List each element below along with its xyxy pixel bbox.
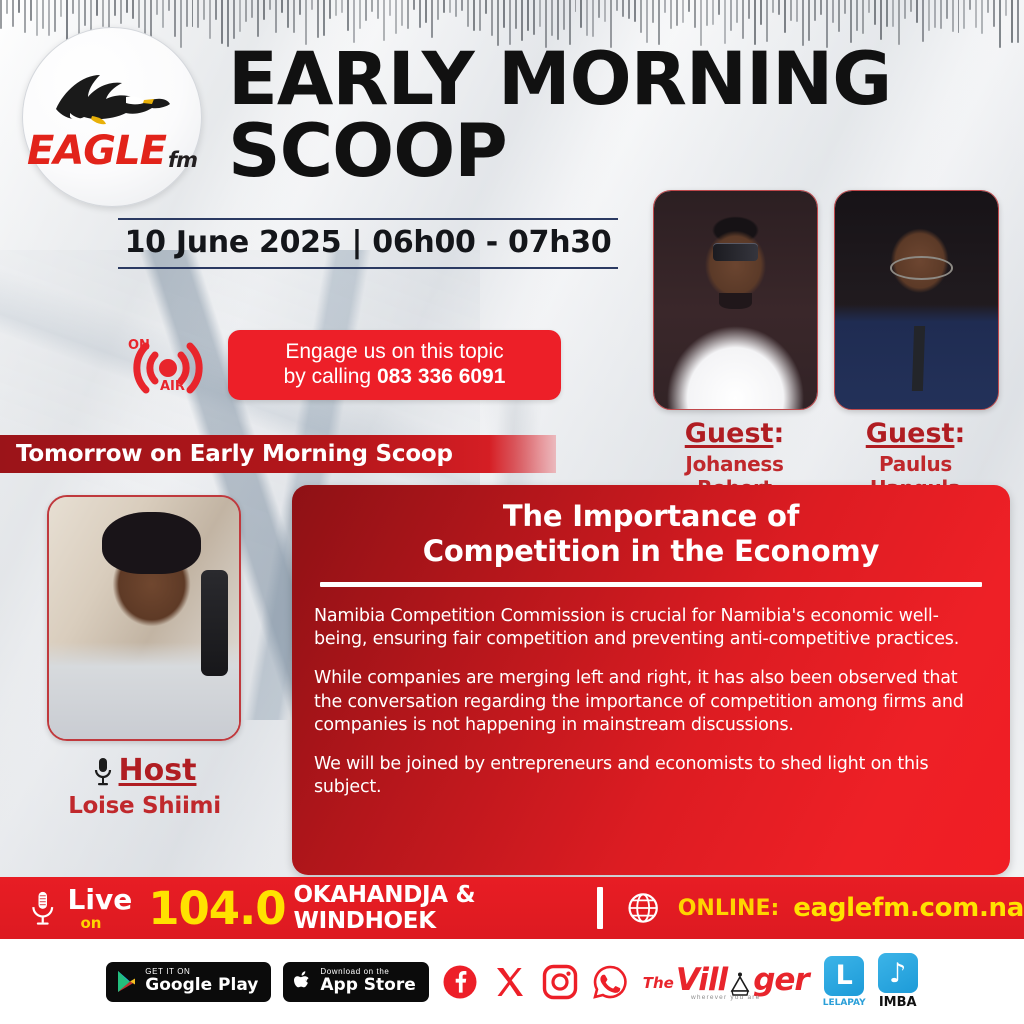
villager-main-2: ger	[753, 962, 809, 998]
google-play-text: GET IT ON Google Play	[145, 968, 258, 994]
live-block: Live on	[68, 886, 133, 931]
facebook-icon[interactable]	[441, 963, 479, 1001]
imba-logo[interactable]: ♪ IMBA	[878, 953, 918, 1010]
topic-title-line-2: Competition in the Economy	[423, 534, 880, 568]
imba-caption: IMBA	[879, 995, 917, 1010]
google-play-badge[interactable]: GET IT ON Google Play	[106, 962, 271, 1002]
station-suffix: fm	[168, 150, 197, 171]
on-air-top-label: ON	[128, 338, 150, 353]
call-in-phone: 083 336 6091	[377, 365, 505, 388]
guest-card-1: Guest: Johaness Robert	[653, 190, 816, 500]
imba-mark: ♪	[878, 953, 918, 993]
app-store-text: Download on the App Store	[320, 968, 415, 994]
microphone-icon	[30, 886, 56, 930]
topic-title: The Importance of Competition in the Eco…	[314, 499, 988, 570]
on-air-bottom-label: AIR	[160, 379, 185, 394]
x-twitter-icon[interactable]	[491, 963, 529, 1001]
guest-card-2: Guest: Paulus Hangula	[834, 190, 997, 500]
guest-role-colon-1: :	[773, 418, 784, 449]
host-card: Host Loise Shiimi	[47, 495, 242, 819]
guest-photo-2	[834, 190, 999, 410]
title-line-2: SCOOP	[228, 116, 1018, 188]
date-time-band: 10 June 2025 | 06h00 - 07h30	[118, 218, 618, 269]
guest-role-label-2: Guest:	[834, 420, 997, 448]
the-villager-logo[interactable]: The Vill ger wherever you are	[641, 962, 811, 1001]
page-title: EARLY MORNING SCOOP	[228, 44, 1018, 187]
globe-icon	[627, 889, 659, 927]
on-air-indicator: ON AIR	[120, 330, 220, 410]
guest-role-label-1: Guest:	[653, 420, 816, 448]
website-url[interactable]: eaglefm.com.na	[793, 893, 1024, 923]
coverage-cities: OKAHANDJA & WINDHOEK	[294, 882, 576, 934]
online-label: ONLINE:	[678, 896, 780, 921]
app-store-big: App Store	[320, 977, 415, 995]
topic-panel: The Importance of Competition in the Eco…	[292, 485, 1010, 875]
guest-role-text-2: Guest	[866, 418, 955, 449]
call-in-line-2: by calling 083 336 6091	[284, 365, 506, 390]
topic-paragraph-3: We will be joined by entrepreneurs and e…	[314, 753, 988, 800]
station-wordmark: EAGLEfm	[27, 131, 197, 171]
guest-role-text-1: Guest	[685, 418, 774, 449]
host-photo	[47, 495, 241, 741]
footer-bar: GET IT ON Google Play Download on the Ap…	[0, 939, 1024, 1024]
host-name: Loise Shiimi	[47, 793, 242, 819]
villager-the: The	[643, 974, 674, 992]
frequency: 104.0	[148, 882, 285, 935]
app-store-badge[interactable]: Download on the App Store	[283, 962, 428, 1002]
guest-role-colon-2: :	[954, 418, 965, 449]
lelapay-logo[interactable]: L LELAPAY	[823, 956, 866, 1008]
microphone-icon	[93, 756, 113, 786]
lelapay-mark: L	[824, 956, 864, 996]
station-logo: EAGLEfm	[22, 27, 202, 207]
host-role-row: Host	[47, 753, 242, 788]
lelapay-caption: LELAPAY	[823, 998, 866, 1008]
google-play-icon	[116, 970, 137, 993]
topic-divider	[320, 582, 982, 587]
villager-tagline: wherever you are	[691, 994, 760, 1001]
date-time-text: 10 June 2025 | 06h00 - 07h30	[118, 225, 618, 260]
google-play-big: Google Play	[145, 977, 258, 995]
tomorrow-banner-text: Tomorrow on Early Morning Scoop	[0, 441, 453, 467]
call-in-prefix: by calling	[284, 365, 377, 388]
villager-main: Vill	[676, 962, 727, 998]
topic-paragraph-1: Namibia Competition Commission is crucia…	[314, 605, 988, 652]
station-name: EAGLE	[27, 131, 166, 171]
live-label: Live	[68, 883, 133, 916]
bar-divider	[597, 887, 603, 929]
instagram-icon[interactable]	[541, 963, 579, 1001]
guest-photo-1	[653, 190, 818, 410]
broadcast-bar: Live on 104.0 OKAHANDJA & WINDHOEK ONLIN…	[0, 877, 1024, 939]
apple-icon	[293, 970, 312, 993]
topic-paragraph-2: While companies are merging left and rig…	[314, 667, 988, 737]
on-label: on	[81, 916, 133, 931]
call-in-box[interactable]: Engage us on this topic by calling 083 3…	[228, 330, 561, 400]
topic-title-line-1: The Importance of	[503, 499, 799, 533]
tomorrow-banner: Tomorrow on Early Morning Scoop	[0, 435, 556, 473]
promo-poster: EAGLEfm EARLY MORNING SCOOP 10 June 2025…	[0, 0, 1024, 1024]
eagle-bird-icon	[48, 69, 176, 135]
call-in-line-1: Engage us on this topic	[285, 340, 503, 365]
whatsapp-icon[interactable]	[591, 963, 629, 1001]
host-role-label: Host	[119, 753, 197, 788]
